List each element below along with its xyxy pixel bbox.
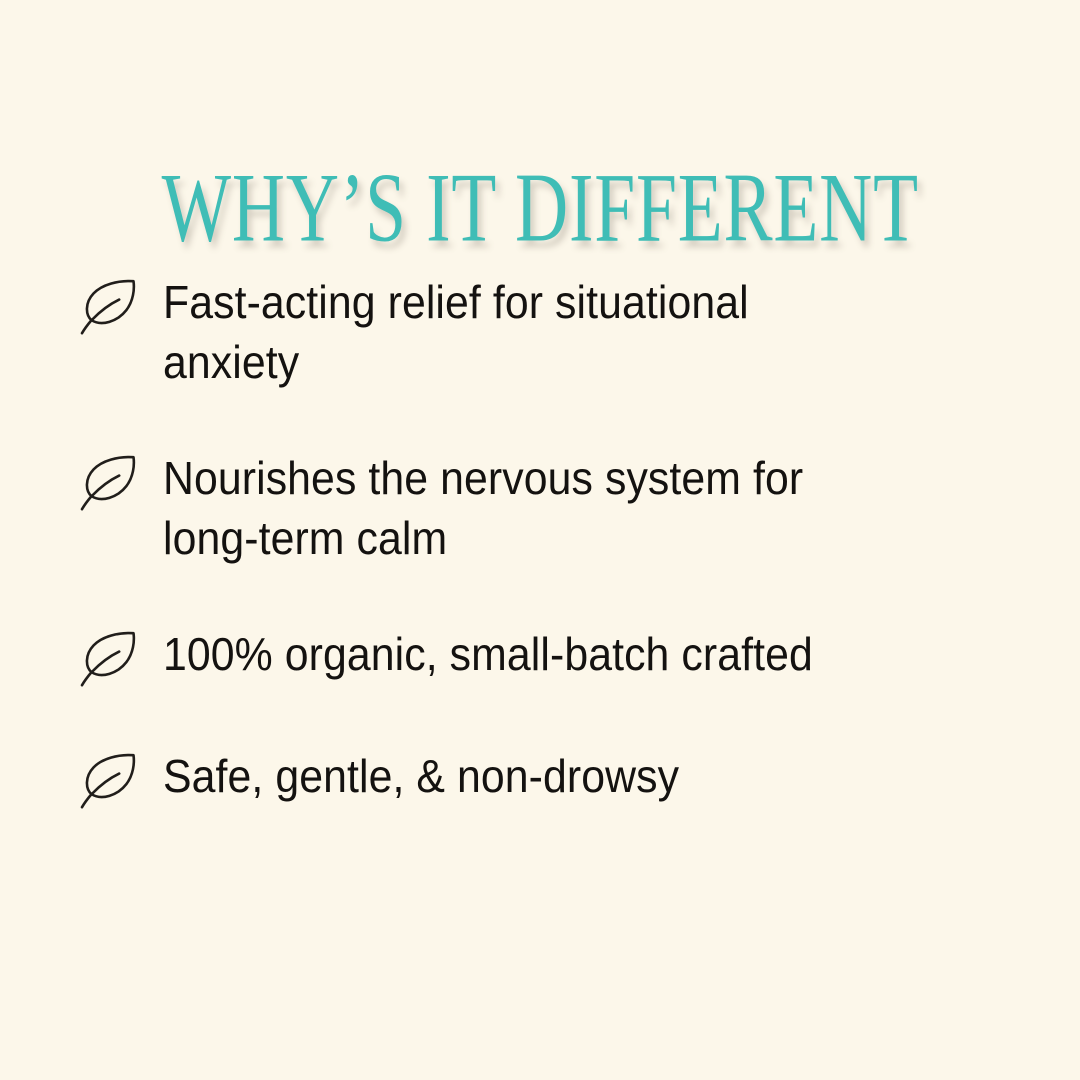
list-item: 100% organic, small-batch crafted [75,624,955,690]
list-item: Nourishes the nervous system for long-te… [75,448,955,568]
list-item-label: 100% organic, small-batch crafted [163,624,814,684]
list-item-label: Fast-acting relief for situational anxie… [163,272,814,392]
benefits-list: Fast-acting relief for situational anxie… [75,272,955,812]
list-item: Safe, gentle, & non-drowsy [75,746,955,812]
leaf-icon [75,628,143,690]
leaf-icon [75,452,143,514]
list-item-label: Safe, gentle, & non-drowsy [163,746,814,806]
leaf-icon [75,276,143,338]
poster-canvas: WHY’S IT DIFFERENT Fast-acting relief fo… [0,0,1080,1080]
list-item-label: Nourishes the nervous system for long-te… [163,448,814,568]
page-title: WHY’S IT DIFFERENT [161,158,918,256]
leaf-icon [75,750,143,812]
list-item: Fast-acting relief for situational anxie… [75,272,955,392]
